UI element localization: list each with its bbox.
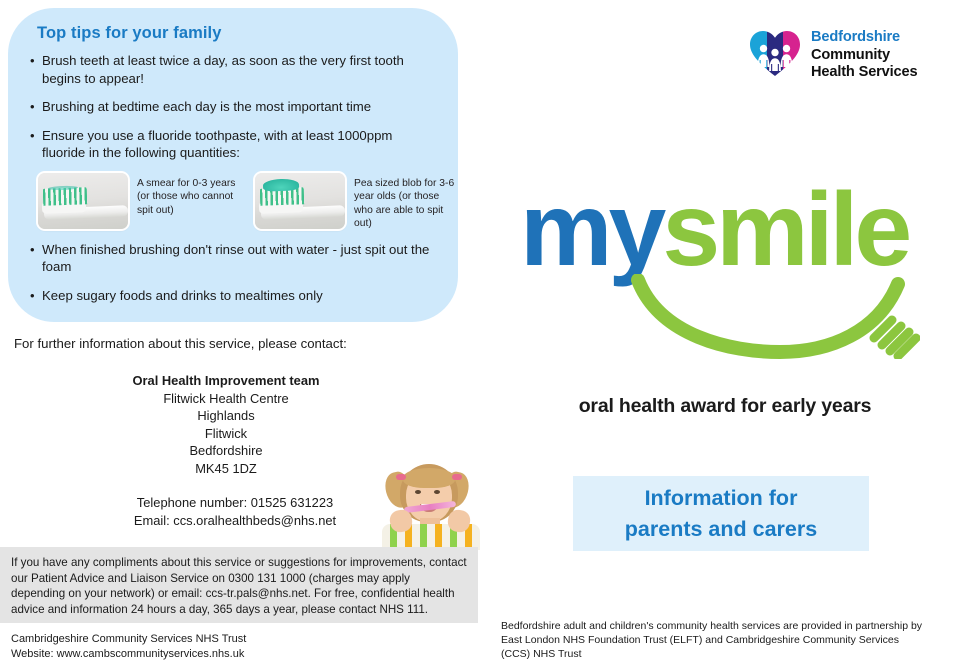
- bchs-logo-wordmark: Bedfordshire Community Health Services: [811, 29, 917, 81]
- toothbrush-smear-photo: [38, 173, 128, 229]
- paste-amount-item: Pea sized blob for 3-6 year olds (or tho…: [255, 173, 458, 231]
- tip-text: Ensure you use a fluoride toothpaste, wi…: [42, 127, 436, 162]
- contact-address-line: Flitwick: [0, 425, 452, 443]
- contact-intro-text: For further information about this servi…: [14, 336, 347, 351]
- bchs-logo-line-2: Community: [811, 47, 917, 64]
- tip-item: • Brush teeth at least twice a day, as s…: [30, 52, 436, 87]
- top-tips-card: Top tips for your family • Brush teeth a…: [8, 8, 458, 322]
- pals-notice-box: If you have any compliments about this s…: [0, 547, 478, 623]
- info-box-line-2: parents and carers: [625, 514, 817, 545]
- mysmile-word-smile: smile: [662, 172, 908, 288]
- partnership-footer-text: Bedfordshire adult and children's commun…: [501, 619, 931, 662]
- bchs-logo: Bedfordshire Community Health Services: [748, 28, 917, 83]
- tip-text: When finished brushing don't rinse out w…: [42, 241, 436, 276]
- mysmile-smile-arc-icon: [630, 274, 920, 364]
- contact-address-line: Highlands: [0, 407, 452, 425]
- bchs-logo-line-3: Health Services: [811, 64, 917, 81]
- toothbrush-pea-photo: [255, 173, 345, 229]
- contact-team-name: Oral Health Improvement team: [0, 372, 452, 390]
- paste-amount-item: A smear for 0-3 years (or those who cann…: [38, 173, 241, 229]
- trust-name: Cambridgeshire Community Services NHS Tr…: [11, 632, 246, 647]
- mysmile-word-my: my: [520, 172, 662, 288]
- bchs-logo-line-1: Bedfordshire: [811, 29, 917, 46]
- trust-website: Website: www.cambscommunityservices.nhs.…: [11, 647, 246, 662]
- tip-text: Brush teeth at least twice a day, as soo…: [42, 52, 436, 87]
- tip-text: Brushing at bedtime each day is the most…: [42, 98, 436, 116]
- tip-text: Keep sugary foods and drinks to mealtime…: [42, 287, 436, 305]
- right-panel: Bedfordshire Community Health Services m…: [490, 0, 960, 671]
- tip-item: • Brushing at bedtime each day is the mo…: [30, 98, 436, 116]
- mysmile-wordmark: mysmile: [520, 178, 908, 282]
- left-panel: Top tips for your family • Brush teeth a…: [0, 0, 490, 671]
- bullet-icon: •: [30, 241, 42, 259]
- paste-amount-caption: Pea sized blob for 3-6 year olds (or tho…: [354, 173, 458, 231]
- tip-item: • Ensure you use a fluoride toothpaste, …: [30, 127, 436, 162]
- bchs-heart-logo-icon: [748, 28, 802, 83]
- top-tips-heading: Top tips for your family: [37, 24, 436, 43]
- bullet-icon: •: [30, 52, 42, 70]
- tip-item: • When finished brushing don't rinse out…: [30, 241, 436, 276]
- tip-item: • Keep sugary foods and drinks to mealti…: [30, 287, 436, 305]
- mysmile-logo: mysmile: [510, 178, 940, 358]
- girl-brushing-teeth-photo: [374, 458, 487, 550]
- paste-amount-row: A smear for 0-3 years (or those who cann…: [38, 173, 436, 231]
- mysmile-tagline: oral health award for early years: [490, 395, 960, 418]
- pals-notice-text: If you have any compliments about this s…: [11, 555, 467, 618]
- paste-amount-caption: A smear for 0-3 years (or those who cann…: [137, 173, 241, 218]
- info-box-line-1: Information for: [645, 483, 798, 514]
- trust-footer: Cambridgeshire Community Services NHS Tr…: [11, 632, 246, 661]
- contact-address-line: Flitwick Health Centre: [0, 390, 452, 408]
- bullet-icon: •: [30, 98, 42, 116]
- bullet-icon: •: [30, 127, 42, 145]
- information-for-parents-box: Information for parents and carers: [573, 476, 869, 551]
- bullet-icon: •: [30, 287, 42, 305]
